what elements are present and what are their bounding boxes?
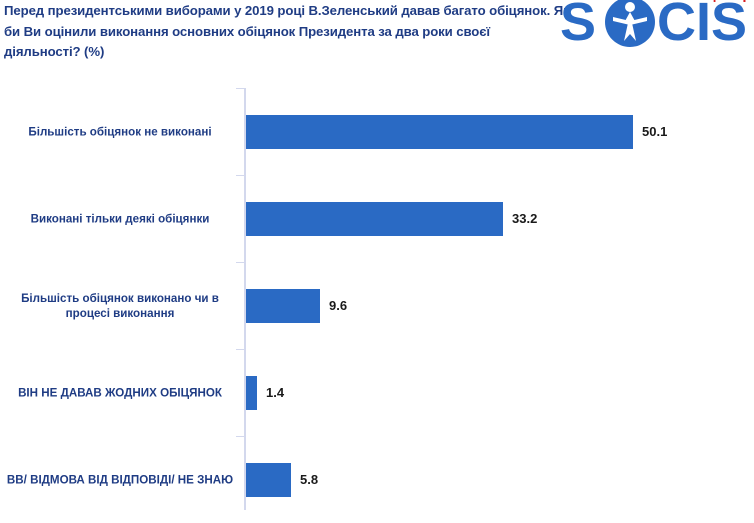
bar-row: ВІН НЕ ДАВАВ ЖОДНИХ ОБІЦЯНОК 1.4 — [0, 349, 754, 436]
bar-category-label: Більшість обіцянок виконано чи в процесі… — [6, 291, 234, 321]
bar-value-label: 9.6 — [329, 298, 347, 313]
bar-value-label: 5.8 — [300, 472, 318, 487]
bar-row: Виконані тільки деякі обіцянки 33.2 — [0, 175, 754, 262]
bar-row: Більшість обіцянок виконано чи в процесі… — [0, 262, 754, 349]
bar-rect[interactable] — [246, 376, 257, 410]
svg-text:CIS: CIS — [657, 0, 747, 48]
page-title: Перед президентськими виборами у 2019 ро… — [4, 1, 570, 63]
bar-value-label: 50.1 — [642, 124, 667, 139]
bar-group: 33.2 — [246, 202, 537, 236]
bar-value-label: 33.2 — [512, 211, 537, 226]
header: Перед президентськими виборами у 2019 ро… — [0, 0, 754, 78]
bar-group: 5.8 — [246, 463, 318, 497]
bar-row: Більшість обіцянок не виконані 50.1 — [0, 88, 754, 175]
bar-rect[interactable] — [246, 289, 320, 323]
bar-category-label: ВВ/ ВІДМОВА ВІД ВІДПОВІДІ/ НЕ ЗНАЮ — [6, 472, 234, 487]
bar-group: 1.4 — [246, 376, 284, 410]
bar-rect[interactable] — [246, 202, 503, 236]
bar-category-label: ВІН НЕ ДАВАВ ЖОДНИХ ОБІЦЯНОК — [6, 385, 234, 400]
bar-rect[interactable] — [246, 115, 633, 149]
svg-text:S: S — [560, 0, 596, 48]
bar-group: 9.6 — [246, 289, 347, 323]
bar-value-label: 1.4 — [266, 385, 284, 400]
socis-logo: центр S CIS — [558, 0, 754, 50]
bar-chart: Більшість обіцянок не виконані 50.1 Вико… — [0, 78, 754, 510]
bar-category-label: Виконані тільки деякі обіцянки — [6, 211, 234, 226]
socis-wordmark-icon: S CIS — [558, 0, 754, 48]
bar-rect[interactable] — [246, 463, 291, 497]
bar-category-label: Більшість обіцянок не виконані — [6, 124, 234, 139]
bar-group: 50.1 — [246, 115, 667, 149]
